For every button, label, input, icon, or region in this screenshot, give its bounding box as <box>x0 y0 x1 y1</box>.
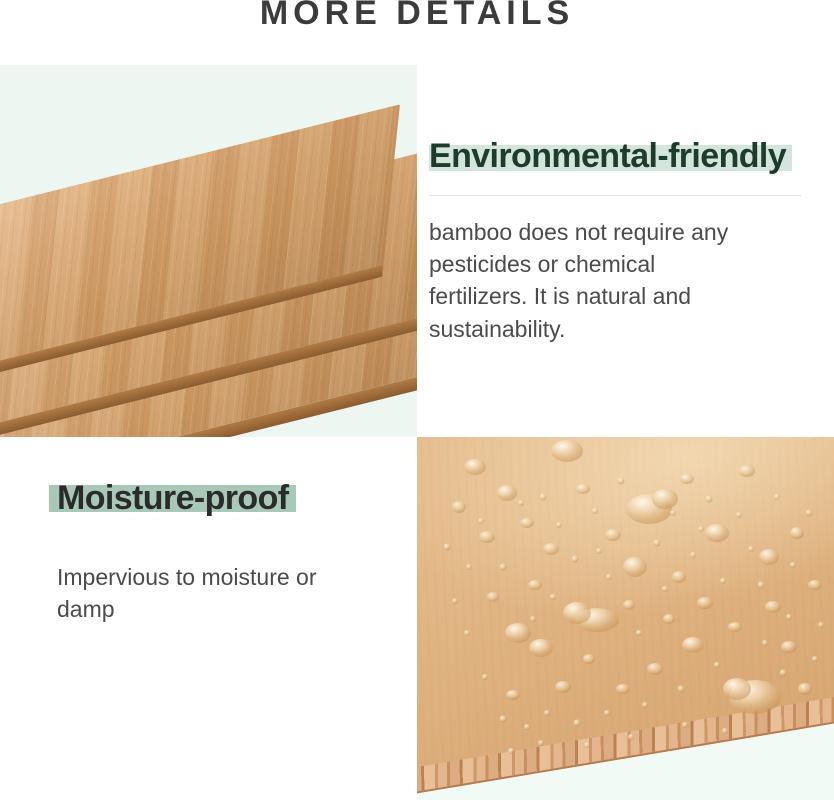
feature-grid: Environmental-friendly bamboo does not r… <box>0 65 834 800</box>
page-header: MORE DETAILS <box>0 0 834 65</box>
moisture-heading: Moisture-proof <box>57 479 288 517</box>
moisture-body-text: Impervious to moisture or damp <box>57 561 367 625</box>
water-droplet-board-illustration <box>417 437 834 800</box>
water-droplets-overlay <box>417 437 834 800</box>
water-droplets-image-panel <box>417 437 834 800</box>
environmental-body-text: bamboo does not require any pesticides o… <box>429 216 749 345</box>
environmental-heading-wrap: Environmental-friendly <box>429 137 786 175</box>
moisture-heading-wrap: Moisture-proof <box>57 479 288 517</box>
environmental-divider <box>429 195 801 196</box>
moisture-proof-panel: Moisture-proof Impervious to moisture or… <box>0 437 417 800</box>
bamboo-boards-image-panel <box>0 65 417 437</box>
environmental-friendly-panel: Environmental-friendly bamboo does not r… <box>417 65 834 437</box>
bamboo-boards-illustration <box>0 65 417 437</box>
environmental-heading: Environmental-friendly <box>429 137 786 175</box>
page-title: MORE DETAILS <box>260 0 574 30</box>
